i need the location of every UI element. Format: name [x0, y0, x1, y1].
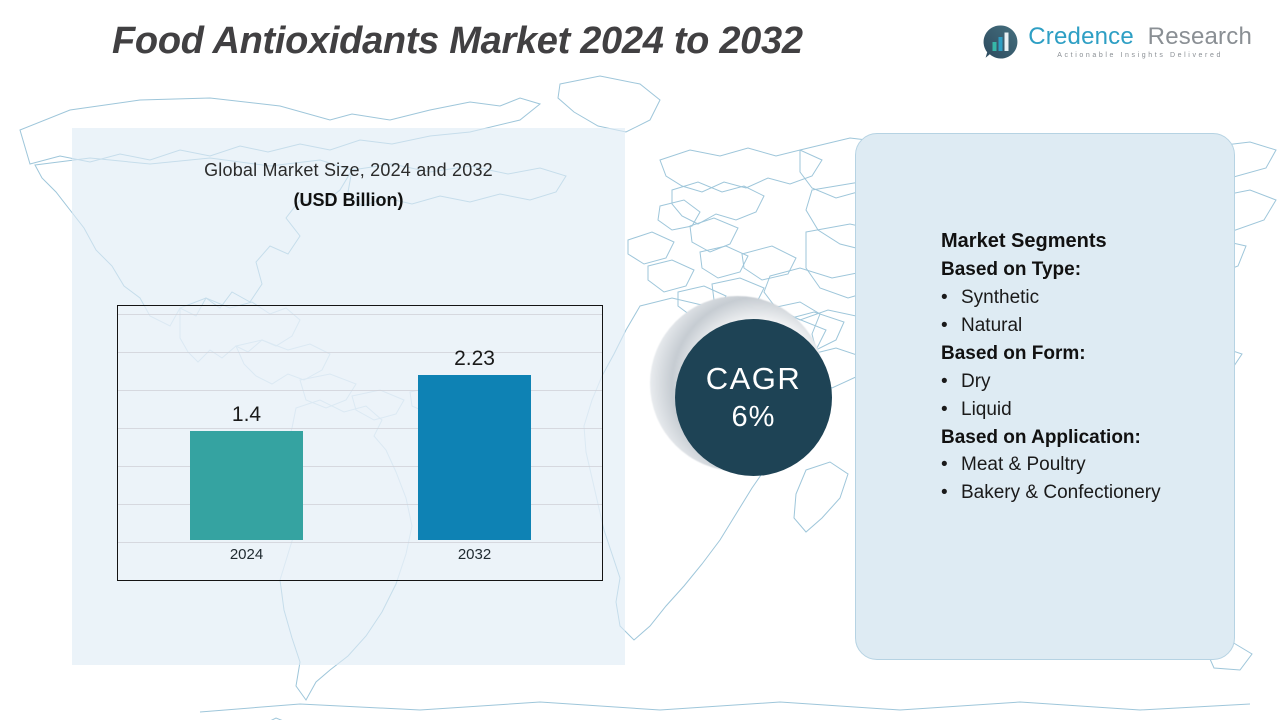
segment-list-item[interactable]: •Natural [941, 312, 1231, 340]
bar-chart-circle-icon [983, 24, 1019, 60]
cagr-value: 6% [732, 403, 776, 432]
bar-2024: 1.42024 [190, 431, 303, 540]
chart-heading-line1: Global Market Size, 2024 and 2032 [72, 160, 625, 181]
logo-wordmark: Credence Research Actionable Insights De… [1028, 25, 1252, 59]
brand-logo: Credence Research Actionable Insights De… [983, 24, 1252, 60]
segment-list-item[interactable]: •Liquid [941, 396, 1231, 424]
segment-list-item[interactable]: •Bakery & Confectionery [941, 479, 1231, 507]
page-title: Food Antioxidants Market 2024 to 2032 [112, 20, 803, 63]
logo-word-primary: Credence [1028, 23, 1134, 50]
segment-group-heading: Based on Type: [941, 256, 1231, 284]
segment-group-heading: Based on Application: [941, 424, 1231, 452]
chart-heading: Global Market Size, 2024 and 2032 (USD B… [72, 160, 625, 211]
infographic-canvas: Food Antioxidants Market 2024 to 2032 Cr… [0, 0, 1280, 720]
segment-item-label: Meat & Poultry [961, 451, 1231, 479]
bullet-icon: • [941, 479, 947, 507]
segment-list-item[interactable]: •Synthetic [941, 284, 1231, 312]
cagr-label: CAGR [706, 363, 802, 394]
segment-item-label: Bakery & Confectionery [961, 479, 1231, 507]
bullet-icon: • [941, 451, 947, 479]
bar-value-label: 2.23 [418, 347, 531, 371]
segments-title: Market Segments [941, 227, 1231, 256]
bar-category-label: 2032 [418, 546, 531, 563]
bullet-icon: • [941, 396, 947, 424]
bullet-icon: • [941, 284, 947, 312]
bar-chart: 1.420242.232032 [117, 305, 603, 581]
segment-group-heading: Based on Form: [941, 340, 1231, 368]
cagr-circle: CAGR 6% [675, 319, 832, 476]
segment-list-item[interactable]: •Dry [941, 368, 1231, 396]
cagr-badge: CAGR 6% [650, 296, 855, 501]
segment-item-label: Synthetic [961, 284, 1231, 312]
logo-word-secondary: Research [1148, 23, 1252, 50]
bullet-icon: • [941, 368, 947, 396]
segment-item-label: Natural [961, 312, 1231, 340]
bullet-icon: • [941, 312, 947, 340]
chart-plot-area: 1.420242.232032 [118, 306, 602, 580]
logo-tagline: Actionable Insights Delivered [1028, 52, 1252, 59]
segment-list-item[interactable]: •Meat & Poultry [941, 451, 1231, 479]
segment-item-label: Dry [961, 368, 1231, 396]
segment-item-label: Liquid [961, 396, 1231, 424]
segments-content: Market Segments Based on Type:•Synthetic… [941, 227, 1231, 507]
bar-rect [418, 375, 531, 540]
bar-rect [190, 431, 303, 540]
chart-heading-line2: (USD Billion) [72, 190, 625, 211]
bar-2032: 2.232032 [418, 375, 531, 540]
bar-category-label: 2024 [190, 546, 303, 563]
segments-groups: Based on Type:•Synthetic•NaturalBased on… [941, 256, 1231, 507]
bar-value-label: 1.4 [190, 403, 303, 427]
